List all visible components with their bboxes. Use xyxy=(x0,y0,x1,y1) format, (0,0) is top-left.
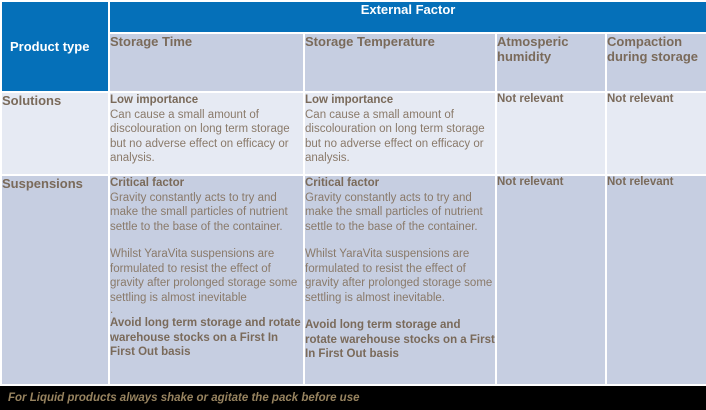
row-label-solutions: Solutions xyxy=(1,92,109,175)
paragraph-spacer xyxy=(305,234,495,247)
cell-paragraph-1: Gravity constantly acts to try and make … xyxy=(305,191,495,235)
column-header-atmospheric-humidity: Atmosperic humidity xyxy=(496,33,606,92)
column-header-compaction-during-storage: Compaction during storage xyxy=(606,33,706,92)
footer-text: For Liquid products always shake or agit… xyxy=(0,386,706,410)
footer-banner: For Liquid products always shake or agit… xyxy=(0,386,706,410)
cell-orphan-period: . xyxy=(110,305,303,316)
corner-header-product-type: Product type xyxy=(1,1,109,92)
cell-paragraph-2: Whilst YaraVita suspensions are formulat… xyxy=(110,247,303,305)
cell-lead: Low importance xyxy=(110,93,303,108)
paragraph-spacer xyxy=(110,234,303,247)
row-label-suspensions: Suspensions xyxy=(1,175,109,385)
table-header-group-row: Product type External Factor xyxy=(1,1,706,33)
cell-paragraph-2: Whilst YaraVita suspensions are formulat… xyxy=(305,247,495,305)
cell-solutions-atmospheric-humidity: Not relevant xyxy=(496,92,606,175)
cell-lead: Critical factor xyxy=(305,176,495,191)
storage-factor-matrix: Product type External Factor Storage Tim… xyxy=(0,0,706,410)
comparison-table: Product type External Factor Storage Tim… xyxy=(0,0,706,386)
cell-suspensions-storage-temperature: Critical factor Gravity constantly acts … xyxy=(304,175,496,385)
cell-suspensions-storage-time: Critical factor Gravity constantly acts … xyxy=(109,175,304,385)
column-header-storage-temperature: Storage Temperature xyxy=(304,33,496,92)
group-header-external-factor: External Factor xyxy=(109,1,706,33)
cell-solutions-storage-temperature: Low importance Can cause a small amount … xyxy=(304,92,496,175)
cell-suspensions-compaction: Not relevant xyxy=(606,175,706,385)
cell-lead: Critical factor xyxy=(110,176,303,191)
cell-suspensions-atmospheric-humidity: Not relevant xyxy=(496,175,606,385)
cell-solutions-storage-time: Low importance Can cause a small amount … xyxy=(109,92,304,175)
cell-lead: Low importance xyxy=(305,93,495,108)
cell-paragraph-1: Can cause a small amount of discolourati… xyxy=(110,108,303,166)
cell-solutions-compaction: Not relevant xyxy=(606,92,706,175)
cell-paragraph-1: Gravity constantly acts to try and make … xyxy=(110,191,303,235)
table-row: Suspensions Critical factor Gravity cons… xyxy=(1,175,706,385)
paragraph-spacer xyxy=(305,305,495,318)
cell-emphasis-note: Avoid long term storage and rotate wareh… xyxy=(305,318,495,362)
cell-emphasis-note: Avoid long term storage and rotate wareh… xyxy=(110,316,303,360)
table-row: Solutions Low importance Can cause a sma… xyxy=(1,92,706,175)
cell-paragraph-1: Can cause a small amount of discolourati… xyxy=(305,108,495,166)
column-header-storage-time: Storage Time xyxy=(109,33,304,92)
